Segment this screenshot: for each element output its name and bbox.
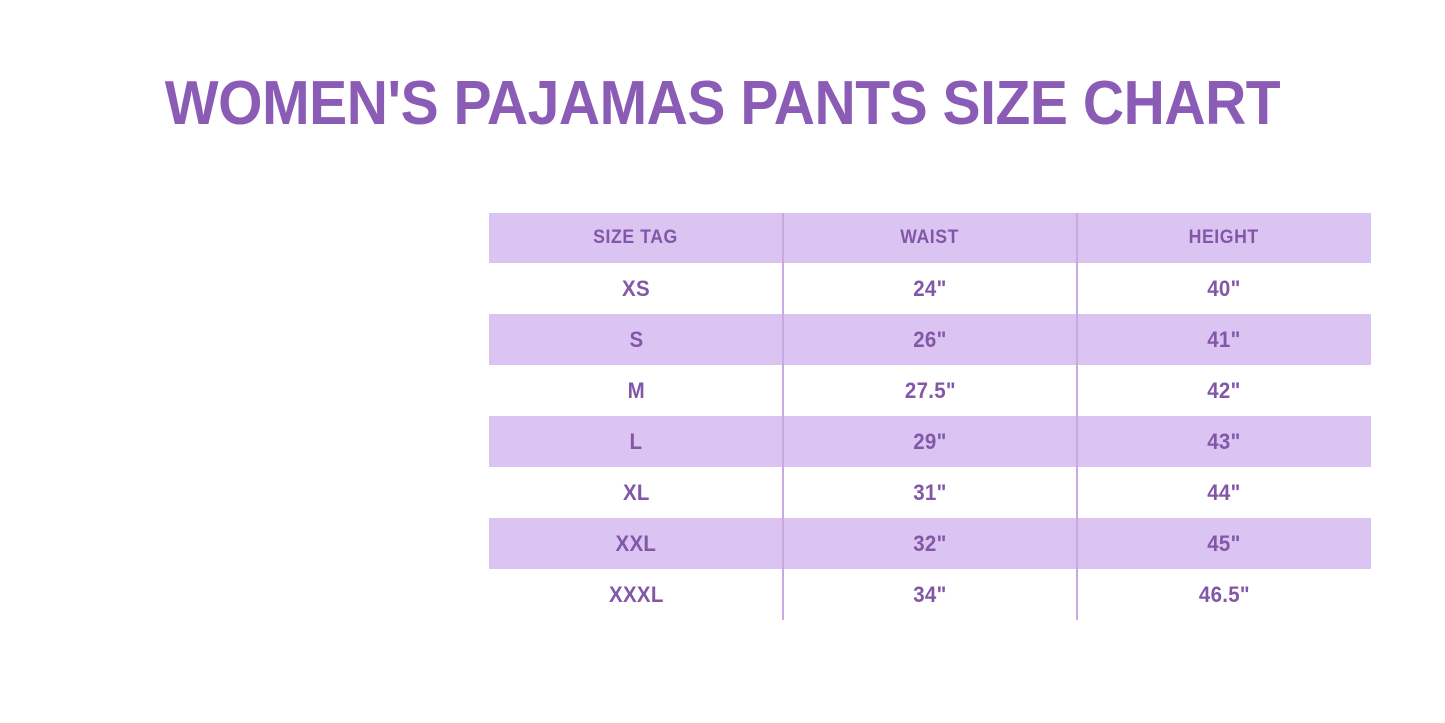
cell-size-tag: XXL [489, 518, 783, 569]
cell-size-tag: M [489, 365, 783, 416]
cell-height: 44" [1077, 467, 1371, 518]
cell-height-value: 46.5" [1199, 582, 1250, 608]
cell-size-tag-value: XXXL [609, 582, 664, 608]
size-chart-table: SIZE TAG WAIST HEIGHT XS 24" 40" [489, 213, 1371, 620]
cell-waist: 34" [783, 569, 1077, 620]
cell-size-tag-value: M [627, 378, 644, 404]
cell-waist: 24" [783, 263, 1077, 314]
size-chart-table-wrapper: SIZE TAG WAIST HEIGHT XS 24" 40" [489, 213, 1371, 623]
cell-height-value: 44" [1207, 480, 1240, 506]
cell-height: 42" [1077, 365, 1371, 416]
cell-waist-value: 26" [913, 327, 946, 353]
cell-waist: 26" [783, 314, 1077, 365]
cell-size-tag-value: L [630, 429, 643, 455]
cell-height-value: 42" [1207, 378, 1240, 404]
table-row: XL 31" 44" [489, 467, 1371, 518]
cell-size-tag-value: S [629, 327, 643, 353]
table-row: S 26" 41" [489, 314, 1371, 365]
cell-waist: 27.5" [783, 365, 1077, 416]
cell-size-tag-value: XL [623, 480, 650, 506]
column-header-waist-label: WAIST [901, 227, 960, 249]
cell-size-tag: L [489, 416, 783, 467]
column-header-waist: WAIST [783, 213, 1077, 263]
cell-height-value: 40" [1207, 276, 1240, 302]
cell-height-value: 41" [1207, 327, 1240, 353]
cell-waist-value: 24" [913, 276, 946, 302]
cell-size-tag: S [489, 314, 783, 365]
cell-size-tag: XS [489, 263, 783, 314]
cell-height-value: 45" [1207, 531, 1240, 557]
cell-size-tag: XXXL [489, 569, 783, 620]
cell-height: 40" [1077, 263, 1371, 314]
table-row: XXL 32" 45" [489, 518, 1371, 569]
cell-waist-value: 32" [913, 531, 946, 557]
column-header-height: HEIGHT [1077, 213, 1371, 263]
cell-height: 41" [1077, 314, 1371, 365]
cell-height-value: 43" [1207, 429, 1240, 455]
table-row: L 29" 43" [489, 416, 1371, 467]
column-header-size-tag: SIZE TAG [489, 213, 783, 263]
cell-height: 43" [1077, 416, 1371, 467]
table-header: SIZE TAG WAIST HEIGHT [489, 213, 1371, 263]
column-header-height-label: HEIGHT [1189, 227, 1259, 249]
page-title: WOMEN'S PAJAMAS PANTS SIZE CHART [58, 66, 1387, 142]
cell-height: 45" [1077, 518, 1371, 569]
cell-waist: 32" [783, 518, 1077, 569]
cell-size-tag-value: XXL [616, 531, 657, 557]
column-header-size-tag-label: SIZE TAG [594, 227, 679, 249]
cell-waist-value: 31" [913, 480, 946, 506]
size-chart-page: WOMEN'S PAJAMAS PANTS SIZE CHART SIZE TA… [0, 0, 1445, 723]
table-row: XXXL 34" 46.5" [489, 569, 1371, 620]
cell-waist-value: 29" [913, 429, 946, 455]
cell-size-tag-value: XS [622, 276, 650, 302]
cell-waist: 31" [783, 467, 1077, 518]
cell-waist: 29" [783, 416, 1077, 467]
cell-waist-value: 27.5" [905, 378, 956, 404]
cell-height: 46.5" [1077, 569, 1371, 620]
cell-size-tag: XL [489, 467, 783, 518]
table-row: M 27.5" 42" [489, 365, 1371, 416]
table-body: XS 24" 40" S 26" 41" M 27.5" 42" L 29" [489, 263, 1371, 620]
cell-waist-value: 34" [913, 582, 946, 608]
table-header-row: SIZE TAG WAIST HEIGHT [489, 213, 1371, 263]
table-row: XS 24" 40" [489, 263, 1371, 314]
